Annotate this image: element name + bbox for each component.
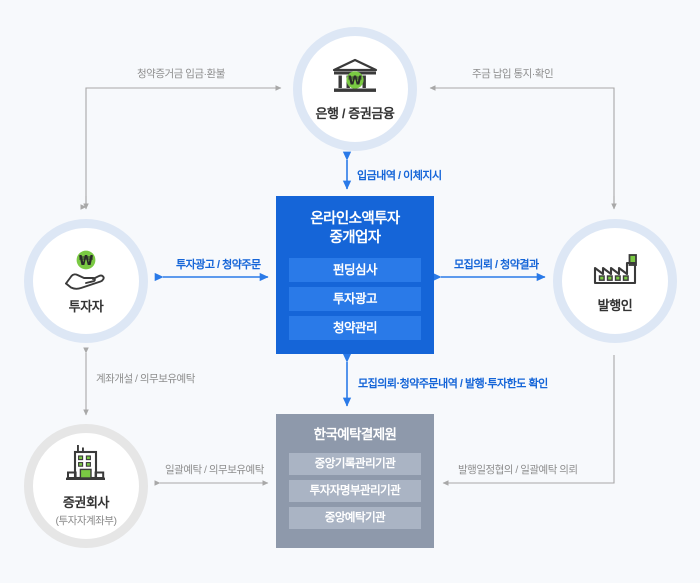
bank-building-icon: ₩ bbox=[330, 57, 380, 97]
box-broker-title-line1: 온라인소액투자 bbox=[310, 210, 399, 229]
box-broker-row-subscription-mgmt[interactable]: 청약관리 bbox=[289, 316, 421, 340]
edge-label-broker-ksd: 모집의뢰·청약주문내역 / 발행·투자한도 확인 bbox=[358, 375, 548, 391]
svg-text:₩: ₩ bbox=[348, 72, 362, 87]
office-building-icon bbox=[61, 444, 111, 486]
node-issuer[interactable]: 발행인 bbox=[553, 219, 677, 343]
box-broker-row-investment-ad[interactable]: 투자광고 bbox=[289, 287, 421, 311]
edge-label-investor-securities: 계좌개설 / 의무보유예탁 bbox=[96, 371, 195, 386]
svg-text:₩: ₩ bbox=[79, 253, 94, 268]
edge-label-issuer-to-bank: 주금 납입 통지·확인 bbox=[472, 66, 553, 81]
edge-investor-to-bank bbox=[86, 88, 281, 209]
box-broker-title-line2: 중개업자 bbox=[310, 229, 399, 248]
box-ksd-row-central-depository[interactable]: 중앙예탁기관 bbox=[289, 507, 421, 529]
box-broker-row-funding-review[interactable]: 펀딩심사 bbox=[289, 258, 421, 282]
node-securities[interactable]: 증권회사 (투자자계좌부) bbox=[24, 424, 148, 548]
edge-label-broker-issuer: 모집의뢰 / 청약결과 bbox=[454, 256, 539, 272]
edge-label-bank-broker: 입금내역 / 이체지시 bbox=[357, 167, 442, 183]
edge-issuer-to-bank bbox=[430, 88, 614, 209]
box-online-small-investment-broker[interactable]: 온라인소액투자 중개업자 펀딩심사 투자광고 청약관리 bbox=[276, 196, 434, 354]
node-securities-sublabel: (투자자계좌부) bbox=[56, 513, 117, 528]
node-bank[interactable]: ₩ 은행 / 증권금융 bbox=[293, 27, 417, 151]
node-securities-label: 증권회사 bbox=[63, 492, 109, 511]
edge-label-investor-to-bank: 청약증거금 입금·환불 bbox=[137, 66, 225, 81]
box-ksd-row-investor-register[interactable]: 투자자명부관리기관 bbox=[289, 480, 421, 502]
box-ksd-title: 한국예탁결제원 bbox=[314, 426, 397, 443]
box-korea-securities-depository[interactable]: 한국예탁결제원 중앙기록관리기관 투자자명부관리기관 중앙예탁기관 bbox=[276, 414, 434, 548]
factory-icon bbox=[589, 249, 641, 289]
node-investor-label: 투자자 bbox=[69, 296, 104, 315]
hand-holding-coin-icon: ₩ bbox=[60, 248, 112, 290]
box-ksd-row-central-record[interactable]: 중앙기록관리기관 bbox=[289, 453, 421, 475]
box-broker-title: 온라인소액투자 중개업자 bbox=[310, 210, 399, 247]
node-investor[interactable]: ₩ 투자자 bbox=[24, 219, 148, 343]
edge-label-issuer-ksd: 발행일정협의 / 일괄예탁 의뢰 bbox=[458, 462, 578, 477]
node-bank-label: 은행 / 증권금융 bbox=[316, 103, 395, 122]
edge-label-investor-broker: 투자광고 / 청약주문 bbox=[176, 256, 261, 272]
edge-label-securities-ksd: 일괄예탁 / 의무보유예탁 bbox=[165, 462, 264, 477]
diagram-canvas: ₩ 은행 / 증권금융 ₩ 투자자 발 bbox=[0, 0, 700, 583]
node-issuer-label: 발행인 bbox=[598, 295, 633, 314]
